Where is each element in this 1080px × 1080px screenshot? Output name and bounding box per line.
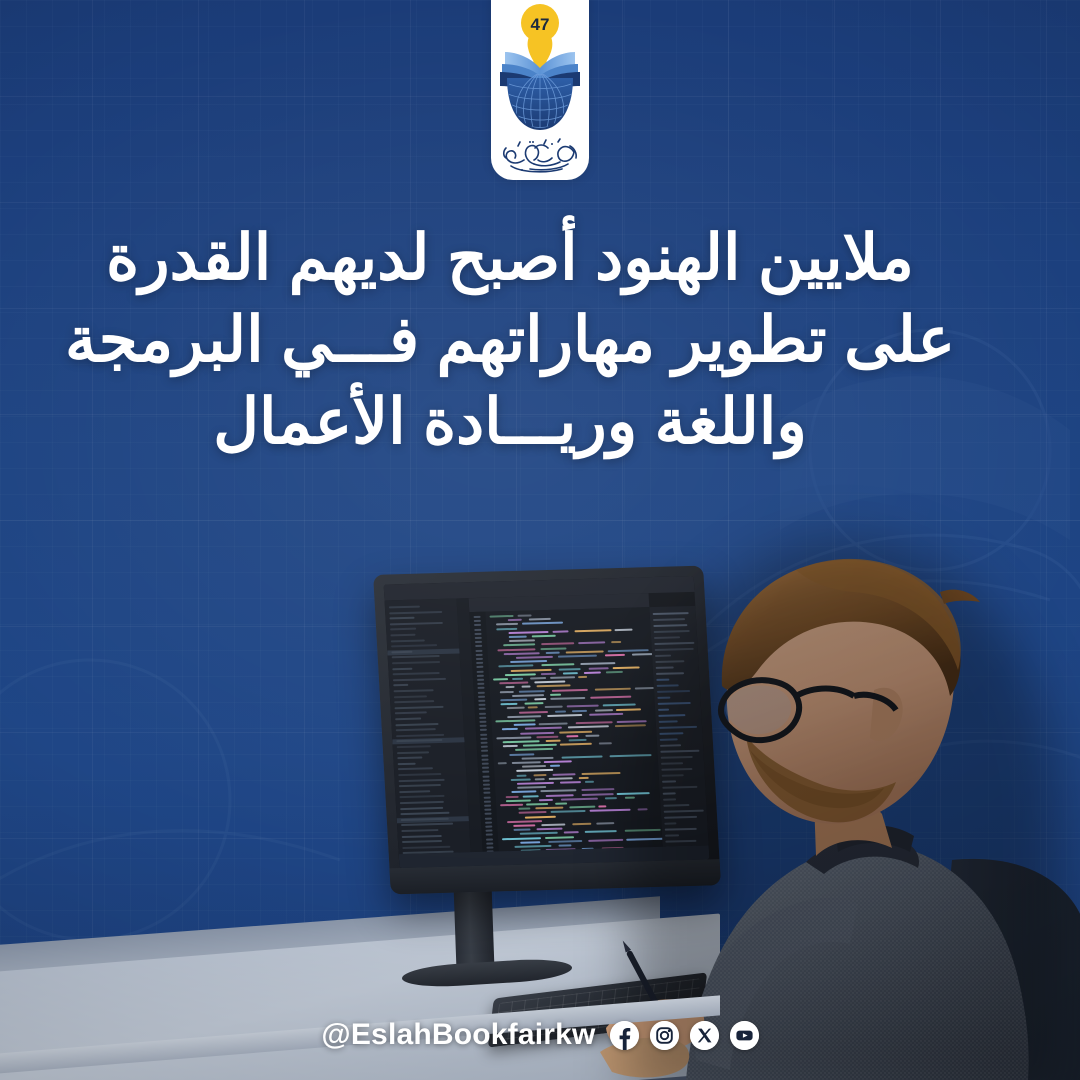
facebook-icon[interactable] xyxy=(610,1021,639,1050)
x-twitter-icon[interactable] xyxy=(690,1021,719,1050)
social-handle: @EslahBookfairkw xyxy=(321,1018,595,1052)
footer-social-bar: @EslahBookfairkw xyxy=(0,1018,1080,1052)
badge-number: 47 xyxy=(531,15,550,34)
dome xyxy=(507,72,573,131)
open-book-dome-logo: 47 xyxy=(497,2,583,138)
brand-logo-panel: 47 xyxy=(491,0,589,180)
youtube-icon[interactable] xyxy=(730,1021,759,1050)
headline-line-2: على تطوير مهاراتهم فـــي البرمجة xyxy=(60,300,960,382)
instagram-icon[interactable] xyxy=(650,1021,679,1050)
logo-calligraphy xyxy=(500,136,580,178)
headline-line-1: ملايين الهنود أصبح لديهم القدرة xyxy=(60,218,960,300)
poster-canvas: 47 xyxy=(0,0,1080,1080)
page-title: ملايين الهنود أصبح لديهم القدرة على تطوي… xyxy=(60,218,960,464)
headline-line-3: واللغة وريـــادة الأعمال xyxy=(60,382,960,464)
